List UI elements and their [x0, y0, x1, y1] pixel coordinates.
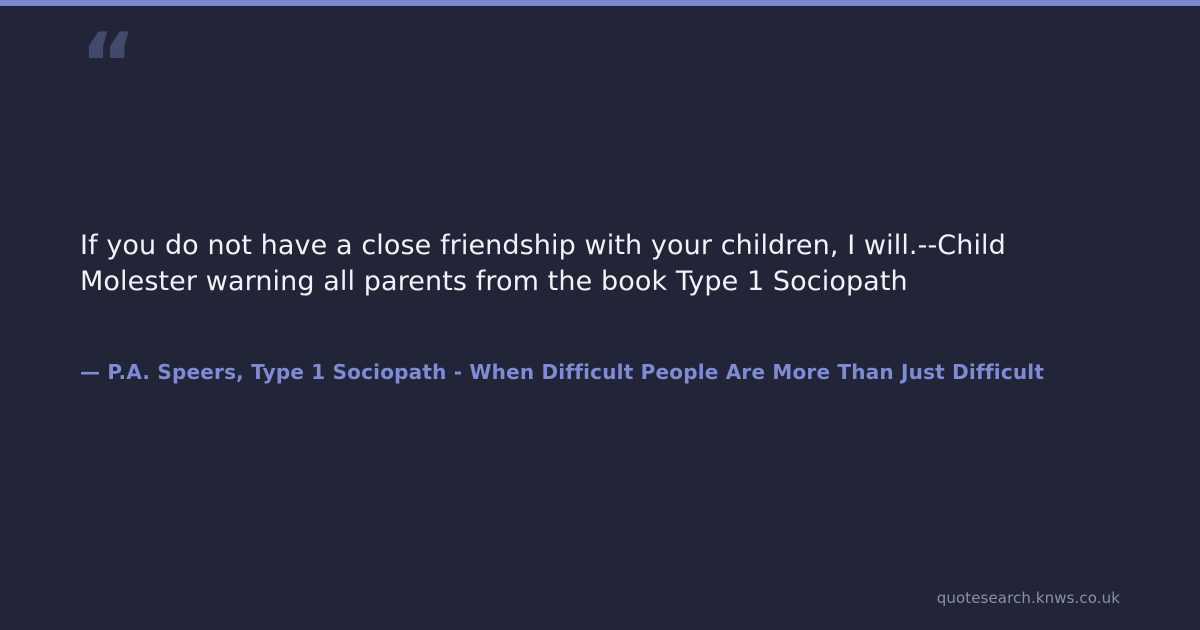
attribution-row: — P.A. Speers, Type 1 Sociopath - When D… [80, 358, 1200, 388]
top-accent-bar [0, 0, 1200, 6]
source-watermark: quotesearch.knws.co.uk [937, 588, 1120, 608]
open-quote-icon: “ [80, 22, 140, 86]
quote-text: If you do not have a close friendship wi… [80, 228, 1120, 300]
attribution-text: — P.A. Speers, Type 1 Sociopath - When D… [80, 358, 1044, 386]
quote-card: “ If you do not have a close friendship … [0, 0, 1200, 630]
